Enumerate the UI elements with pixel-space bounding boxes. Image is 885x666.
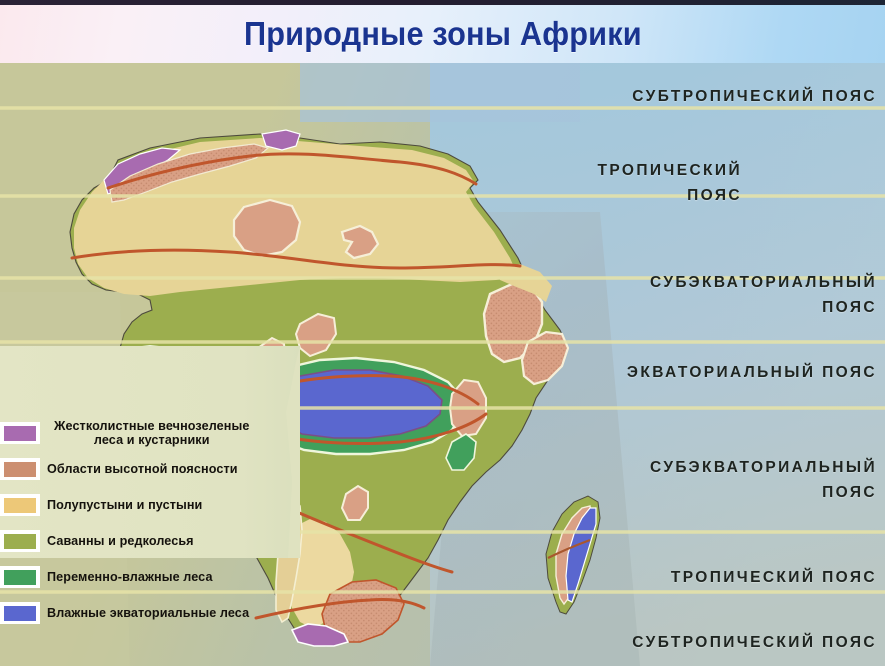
slide-header: Природные зоны Африки — [0, 5, 885, 63]
legend-color-swatch — [4, 570, 36, 585]
belt-label-subequatorial-south: СУБЭКВАТОРИАЛЬНЫЙ ПОЯС — [592, 455, 877, 505]
belt-label-tropical-south: ТРОПИЧЕСКИЙ ПОЯС — [592, 565, 877, 590]
page-title: Природные зоны Африки — [244, 15, 642, 53]
top-navy-strip — [0, 0, 885, 5]
legend-item-label: Области высотной поясности — [47, 462, 238, 476]
legend-swatch-frame — [0, 422, 40, 444]
legend-color-swatch — [4, 534, 36, 549]
zone-mediterranean-tunisia — [262, 130, 300, 150]
belt-label-subtropical-north: СУБТРОПИЧЕСКИЙ ПОЯС — [592, 84, 877, 109]
legend-item-label: Влажные экваториальные леса — [47, 606, 249, 620]
legend-swatch-frame — [0, 494, 40, 516]
legend-item-label: Полупустыни и пустыни — [47, 498, 202, 512]
legend-item: Влажные экваториальные леса — [0, 598, 300, 628]
legend-item: Саванны и редколесья — [0, 526, 300, 556]
legend-swatch-frame — [0, 458, 40, 480]
legend-color-swatch — [4, 606, 36, 621]
map-canvas: СУБТРОПИЧЕСКИЙ ПОЯС ТРОПИЧЕСКИЙ ПОЯС СУБ… — [0, 62, 885, 666]
legend-item-label: Жестколистные вечнозеленые леса и кустар… — [54, 419, 249, 447]
legend-item-label: Саванны и редколесья — [47, 534, 194, 548]
legend-swatch-frame — [0, 602, 40, 624]
belt-label-tropical-north: ТРОПИЧЕСКИЙ ПОЯС — [592, 158, 742, 208]
legend-item-label: Переменно-влажные леса — [47, 570, 213, 584]
legend-item: Переменно-влажные леса — [0, 562, 300, 592]
map-legend: Жестколистные вечнозеленые леса и кустар… — [0, 412, 300, 636]
legend-item: Полупустыни и пустыни — [0, 490, 300, 520]
belt-label-equatorial: ЭКВАТОРИАЛЬНЫЙ ПОЯС — [592, 360, 877, 385]
slide-root: Природные зоны Африки — [0, 0, 885, 666]
mediterranean-sea — [300, 62, 580, 122]
legend-item: Жестколистные вечнозеленые леса и кустар… — [0, 418, 300, 448]
legend-item: Области высотной поясности — [0, 454, 300, 484]
belt-label-subtropical-south: СУБТРОПИЧЕСКИЙ ПОЯС — [592, 630, 877, 655]
legend-color-swatch — [4, 426, 36, 441]
legend-color-swatch — [4, 462, 36, 477]
legend-swatch-frame — [0, 530, 40, 552]
legend-color-swatch — [4, 498, 36, 513]
legend-swatch-frame — [0, 566, 40, 588]
belt-label-subequatorial-north: СУБЭКВАТОРИАЛЬНЫЙ ПОЯС — [592, 270, 877, 320]
